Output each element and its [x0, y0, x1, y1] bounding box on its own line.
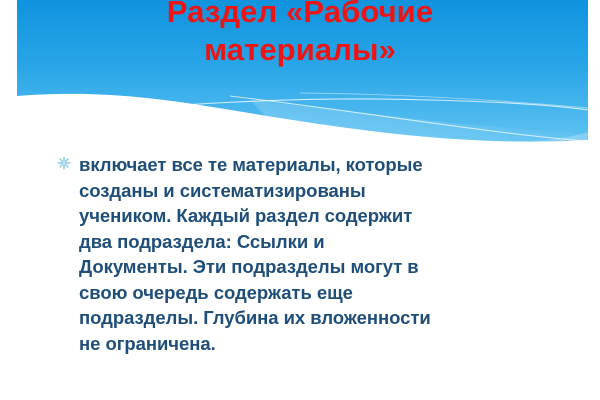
body-line: не ограничена.: [79, 331, 537, 357]
body-line: включает все те материалы, которые: [79, 152, 537, 178]
title-line-1: Раздел «Рабочие: [0, 0, 600, 31]
body-line: свою очередь содержать еще: [79, 280, 537, 306]
body-line: созданы и систематизированы: [79, 178, 537, 204]
title-line-2: материалы»: [0, 31, 600, 69]
body-line: Документы. Эти подразделы могут в: [79, 254, 537, 280]
snowflake-icon: [57, 156, 79, 170]
slide-body: включает все те материалы, которые созда…: [57, 152, 537, 356]
presentation-slide: Раздел «Рабочие материалы» включает все …: [0, 0, 600, 400]
slide-title: Раздел «Рабочие материалы»: [0, 0, 600, 69]
body-paragraph: включает все те материалы, которые созда…: [79, 152, 537, 356]
body-line: два подраздела: Ссылки и: [79, 229, 537, 255]
body-line: учеником. Каждый раздел содержит: [79, 203, 537, 229]
body-line: подразделы. Глубина их вложенности: [79, 305, 537, 331]
